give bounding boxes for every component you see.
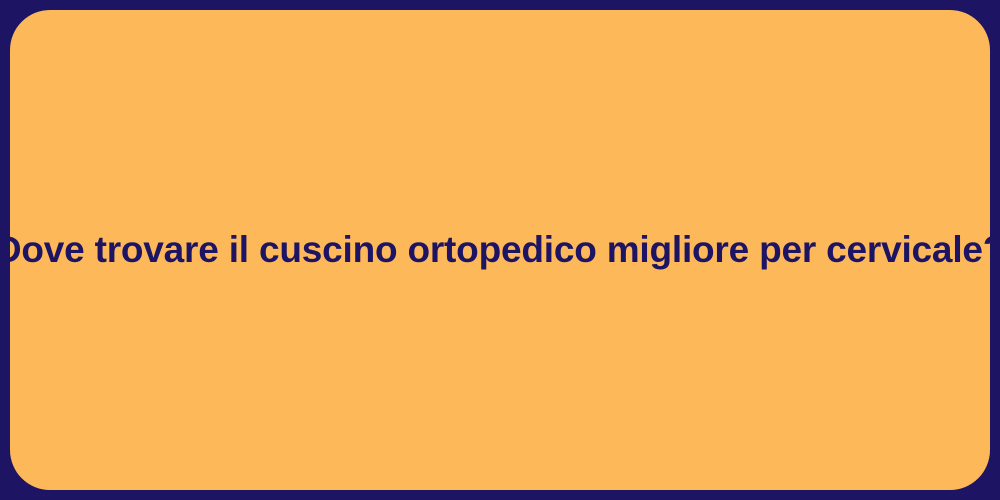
content-card: Dove trovare il cuscino ortopedico migli… (10, 10, 990, 490)
page-frame: Dove trovare il cuscino ortopedico migli… (0, 0, 1000, 500)
page-title: Dove trovare il cuscino ortopedico migli… (0, 227, 1000, 273)
